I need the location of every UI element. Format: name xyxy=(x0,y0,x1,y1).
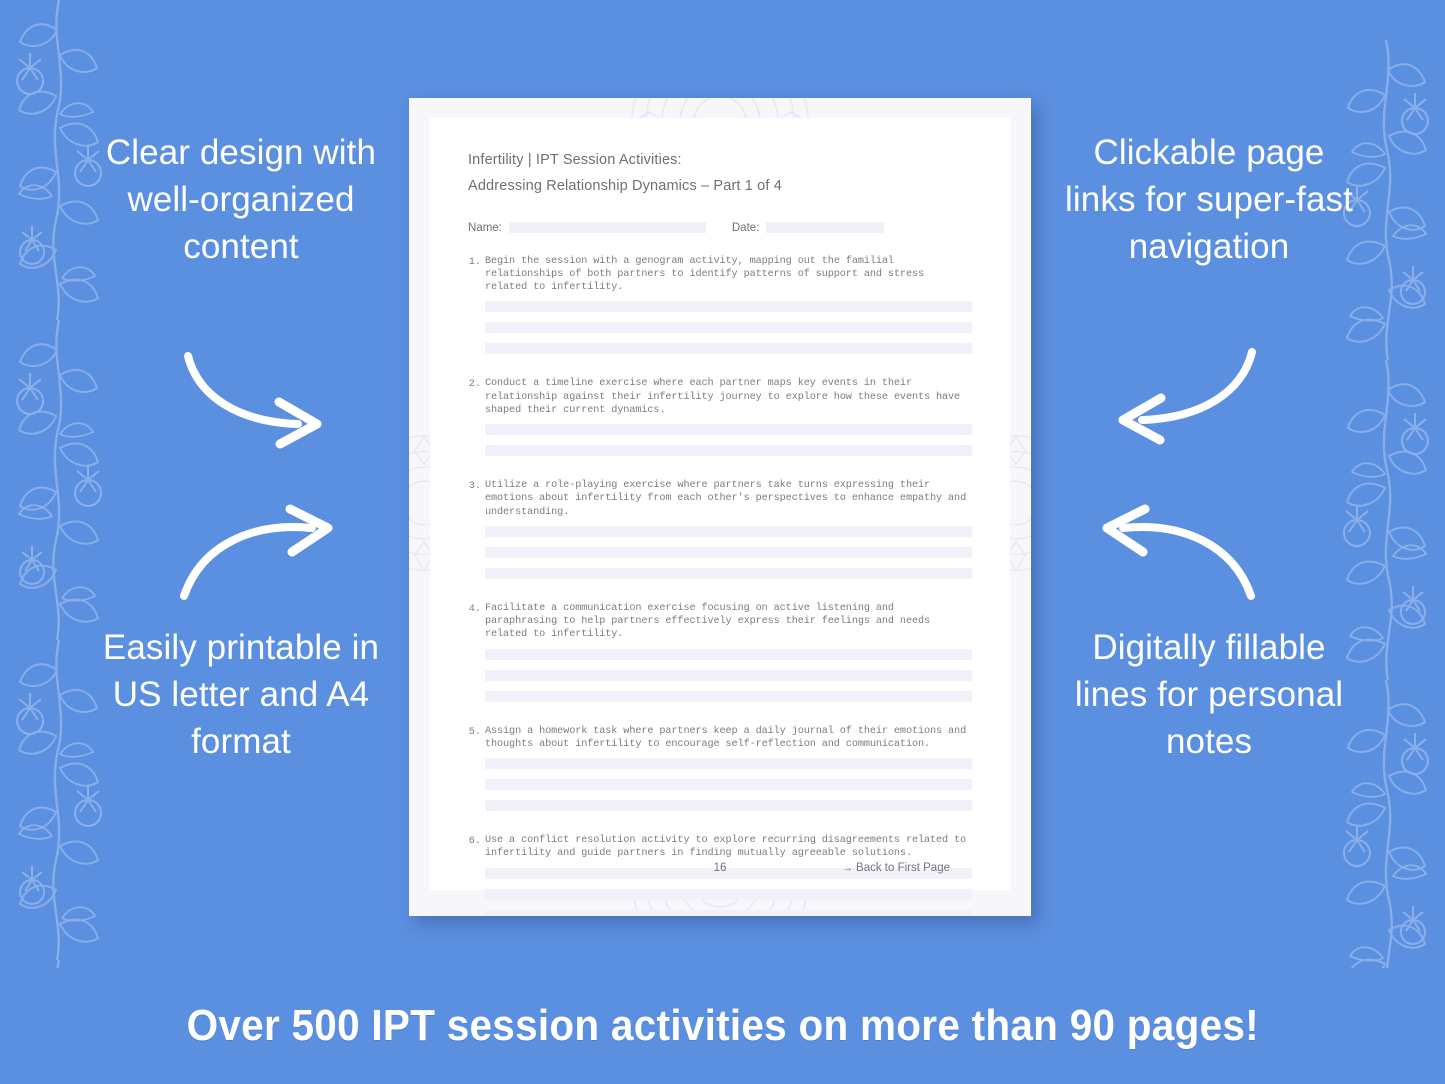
spacer xyxy=(468,368,972,377)
fillable-line[interactable] xyxy=(485,526,972,537)
activity-number: 1. xyxy=(468,255,485,365)
activity-text: Utilize a role-playing exercise where pa… xyxy=(485,479,972,519)
activity-text: Conduct a timeline exercise where each p… xyxy=(485,377,972,417)
promo-bottom-left: Easily printable in US letter and A4 for… xyxy=(96,625,386,766)
activity-body: Utilize a role-playing exercise where pa… xyxy=(485,479,972,589)
promo-top-left: Clear design with well-organized content xyxy=(96,130,386,271)
activity-body: Conduct a timeline exercise where each p… xyxy=(485,377,972,466)
date-label: Date: xyxy=(732,222,760,234)
spacer xyxy=(468,593,972,602)
fillable-line[interactable] xyxy=(485,547,972,558)
spacer xyxy=(468,716,972,725)
fillable-line[interactable] xyxy=(485,343,972,354)
fillable-line[interactable] xyxy=(485,910,972,916)
fillable-line[interactable] xyxy=(485,301,972,312)
name-date-row: Name: Date: xyxy=(468,222,972,234)
back-to-first-page-link[interactable]: →Back to First Page xyxy=(843,862,950,874)
fillable-line[interactable] xyxy=(485,649,972,660)
name-input[interactable] xyxy=(509,222,706,233)
banner-text: Over 500 IPT session activities on more … xyxy=(186,1001,1258,1051)
worksheet-title-line-1: Infertility | IPT Session Activities: xyxy=(468,148,972,174)
curved-arrow-icon-top-left xyxy=(180,352,340,444)
arrow-right-icon: → xyxy=(843,862,854,874)
fillable-lines xyxy=(485,301,972,354)
fillable-lines xyxy=(485,649,972,702)
date-input[interactable] xyxy=(766,222,884,233)
curved-arrow-icon-top-right xyxy=(1100,348,1260,440)
fillable-line[interactable] xyxy=(485,322,972,333)
activity-item: 3.Utilize a role-playing exercise where … xyxy=(468,479,972,589)
fillable-line[interactable] xyxy=(485,779,972,790)
activity-number: 4. xyxy=(468,602,485,712)
spacer xyxy=(468,825,972,834)
activity-body: Use a conflict resolution activity to ex… xyxy=(485,834,972,916)
fillable-line[interactable] xyxy=(485,445,972,456)
activity-item: 6.Use a conflict resolution activity to … xyxy=(468,834,972,916)
worksheet-page: Infertility | IPT Session Activities: Ad… xyxy=(409,98,1031,916)
fillable-lines xyxy=(485,424,972,456)
fillable-line[interactable] xyxy=(485,758,972,769)
worksheet-content-card: Infertility | IPT Session Activities: Ad… xyxy=(430,118,1010,890)
activity-text: Use a conflict resolution activity to ex… xyxy=(485,834,972,861)
activity-number: 6. xyxy=(468,834,485,916)
activity-number: 3. xyxy=(468,479,485,589)
activity-number: 5. xyxy=(468,725,485,822)
activity-text: Facilitate a communication exercise focu… xyxy=(485,602,972,642)
activity-text: Assign a homework task where partners ke… xyxy=(485,725,972,752)
worksheet-title-line-2: Addressing Relationship Dynamics – Part … xyxy=(468,174,972,200)
fillable-line[interactable] xyxy=(485,889,972,900)
fillable-line[interactable] xyxy=(485,800,972,811)
curved-arrow-icon-bottom-left xyxy=(180,508,340,600)
activity-item: 4.Facilitate a communication exercise fo… xyxy=(468,602,972,712)
activity-text: Begin the session with a genogram activi… xyxy=(485,255,972,295)
page-number: 16 xyxy=(714,862,727,874)
activity-item: 1.Begin the session with a genogram acti… xyxy=(468,255,972,365)
fillable-lines xyxy=(485,868,972,916)
activity-item: 5.Assign a homework task where partners … xyxy=(468,725,972,822)
activity-list: 1.Begin the session with a genogram acti… xyxy=(468,255,972,916)
bottom-banner: Over 500 IPT session activities on more … xyxy=(0,968,1445,1084)
fillable-line[interactable] xyxy=(485,691,972,702)
activity-number: 2. xyxy=(468,377,485,466)
promo-bottom-right: Digitally fillable lines for personal no… xyxy=(1059,625,1359,766)
activity-body: Assign a homework task where partners ke… xyxy=(485,725,972,822)
activity-item: 2.Conduct a timeline exercise where each… xyxy=(468,377,972,466)
fillable-line[interactable] xyxy=(485,424,972,435)
curved-arrow-icon-bottom-right xyxy=(1095,508,1255,600)
activity-body: Facilitate a communication exercise focu… xyxy=(485,602,972,712)
fillable-line[interactable] xyxy=(485,670,972,681)
promo-top-right: Clickable page links for super-fast navi… xyxy=(1059,130,1359,271)
fillable-lines xyxy=(485,526,972,579)
name-label: Name: xyxy=(468,222,502,234)
fillable-line[interactable] xyxy=(485,568,972,579)
fillable-lines xyxy=(485,758,972,811)
activity-body: Begin the session with a genogram activi… xyxy=(485,255,972,365)
back-to-first-page-label: Back to First Page xyxy=(856,862,950,874)
spacer xyxy=(468,470,972,479)
